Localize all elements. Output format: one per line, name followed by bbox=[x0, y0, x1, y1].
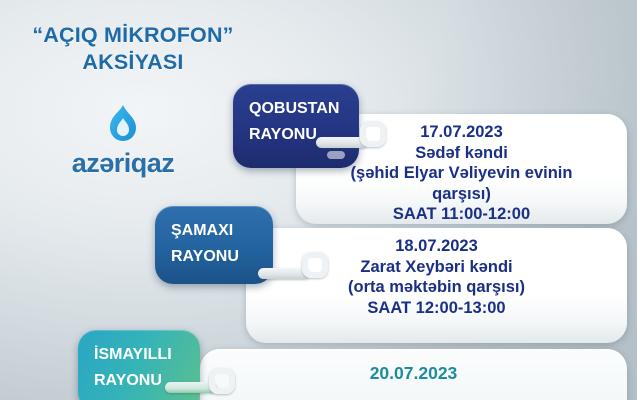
region-tag-samaxi: ŞAMAXI RAYONU bbox=[155, 206, 273, 284]
chain-link-ismayilli bbox=[165, 368, 251, 400]
page-title: “AÇIQ MİKROFON” AKSİYASI bbox=[8, 22, 258, 76]
flame-icon bbox=[106, 104, 140, 146]
logo-wordmark: azəriqaz bbox=[38, 150, 208, 177]
azeriqaz-logo: azəriqaz bbox=[38, 104, 208, 177]
link-hook bbox=[302, 252, 328, 278]
region-tag-line-1: ŞAMAXI bbox=[171, 218, 273, 244]
link-hook bbox=[360, 121, 386, 147]
chain-link-qobustan bbox=[316, 119, 402, 161]
event-card-ismayilli-text: 20.07.2023 bbox=[200, 349, 627, 384]
event-date: 20.07.2023 bbox=[200, 363, 627, 384]
event-time: SAAT 11:00-12:00 bbox=[296, 204, 627, 225]
event-card-ismayilli: 20.07.2023 bbox=[200, 349, 627, 400]
title-line-2: AKSİYASI bbox=[8, 49, 258, 76]
title-line-1: “AÇIQ MİKROFON” bbox=[32, 23, 233, 47]
event-time: SAAT 12:00-13:00 bbox=[246, 298, 627, 319]
poster-canvas: “AÇIQ MİKROFON” AKSİYASI azəriqaz 17.07.… bbox=[0, 0, 637, 400]
link-hook bbox=[209, 368, 235, 394]
region-tag-line-1: İSMAYILLI bbox=[94, 342, 200, 368]
chain-link-samaxi bbox=[258, 250, 344, 292]
event-detail-2: qarşısı) bbox=[296, 184, 627, 205]
